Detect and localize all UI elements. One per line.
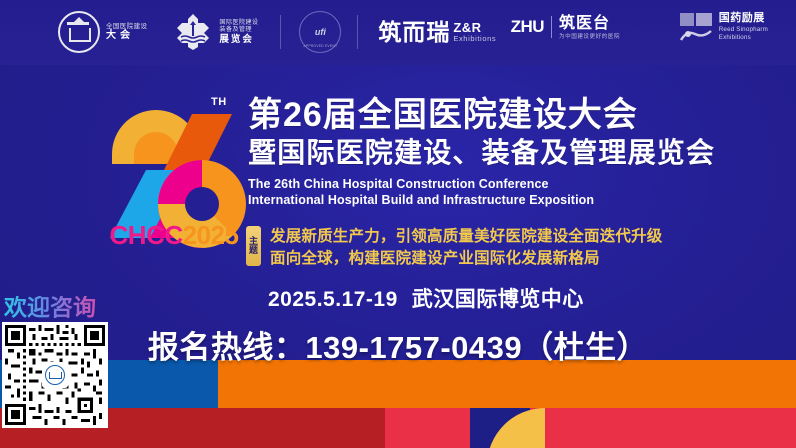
qr-caption: 欢迎咨询	[2, 296, 112, 319]
bottom-color-bands	[0, 360, 796, 448]
logo-zr-en-main: Z&R	[453, 21, 496, 35]
hotline-contact: （杜生）	[522, 330, 648, 365]
logo-zr: 筑而瑞 Z&R Exhibitions	[378, 21, 496, 44]
theme-row: 主 题 发展新质生产力，引领高质量美好医院建设全面迭代升级 面向全球，构建医院建…	[246, 226, 663, 271]
circular-seal-building-icon	[58, 11, 100, 53]
title-block: 第26届全国医院建设大会 暨国际医院建设、装备及管理展览会 The 26th C…	[248, 96, 788, 208]
snowflake-cross-icon	[173, 12, 213, 52]
ufi-sublabel: APPROVED EVENT	[300, 44, 340, 48]
ufi-label: ufi	[315, 27, 326, 37]
logo-exhibition-line3: 展览会	[219, 34, 258, 45]
logo-reed-sinopharm: 国药励展 Reed Sinopharm Exhibitions	[679, 12, 768, 42]
logo-reed-en1: Reed Sinopharm	[719, 26, 768, 34]
emblem-wordmark-chcc: CHCC	[110, 220, 183, 250]
logo-conference-line1: 全国医院建设	[106, 23, 147, 30]
logo-zr-cn: 筑而瑞	[378, 21, 450, 44]
event-venue: 武汉国际博览中心	[412, 288, 584, 311]
logo-exhibition-line2: 装备及管理	[219, 26, 258, 33]
logo-conference-line2: 大会	[106, 30, 147, 42]
theme-line1: 发展新质生产力，引领高质量美好医院建设全面迭代升级	[270, 226, 663, 248]
english-subtitle-line2: International Hospital Build and Infrast…	[248, 192, 788, 208]
main-title-line2: 暨国际医院建设、装备及管理展览会	[248, 136, 788, 170]
logo-zhu-divider	[551, 16, 552, 38]
emblem-wordmark: CHCC2025	[98, 222, 250, 248]
reed-sinopharm-mark-icon	[679, 12, 713, 42]
event-date: 2025.5.17-19	[268, 288, 398, 311]
theme-badge-char2: 题	[249, 246, 258, 255]
header-divider-2	[357, 15, 358, 49]
event-date-venue: 2025.5.17-19武汉国际博览中心	[268, 283, 584, 313]
logo-zr-en-sub: Exhibitions	[453, 35, 496, 43]
ufi-circle-icon: ufi APPROVED EVENT	[299, 11, 341, 53]
logo-zhu: ZHU 筑医台 为中国建设更好的医院	[511, 14, 620, 41]
theme-lines: 发展新质生产力，引领高质量美好医院建设全面迭代升级 面向全球，构建医院建设产业国…	[270, 226, 663, 271]
english-subtitle: The 26th China Hospital Construction Con…	[248, 176, 788, 209]
english-subtitle-line1: The 26th China Hospital Construction Con…	[248, 176, 788, 192]
logo-zhu-cn: 筑医台	[559, 14, 620, 34]
emblem-wordmark-year: 2025	[183, 220, 239, 250]
header-divider-1	[280, 15, 281, 49]
theme-badge: 主 题	[246, 226, 261, 266]
logo-zhu-en: ZHU	[511, 17, 544, 37]
qr-block: 欢迎咨询	[2, 296, 112, 428]
hotline-banner: 报名热线：139-1757-0439（杜生）	[0, 322, 796, 367]
qr-code-image[interactable]	[2, 322, 108, 428]
logo-ufi: ufi APPROVED EVENT	[299, 11, 341, 53]
theme-line2: 面向全球，构建医院建设产业国际化发展新格局	[270, 248, 663, 270]
logo-reed-en2: Exhibitions	[719, 34, 768, 42]
logo-zhu-slogan: 为中国建设更好的医院	[559, 34, 620, 41]
hotline-number[interactable]: 139-1757-0439	[305, 330, 522, 365]
main-title-line1: 第26届全国医院建设大会	[248, 96, 788, 134]
header-logo-bar: 全国医院建设 大会 国际医院建设 装备及管理 展览会 u	[0, 0, 796, 64]
logo-reed-cn: 国药励展	[719, 12, 768, 26]
band-orange	[218, 360, 796, 408]
logo-conference: 全国医院建设 大会	[58, 11, 147, 53]
hospital-seal-icon	[42, 362, 68, 388]
logo-exhibition: 国际医院建设 装备及管理 展览会	[173, 12, 258, 52]
poster-canvas: 全国医院建设 大会 国际医院建设 装备及管理 展览会 u	[0, 0, 796, 448]
emblem-superscript: TH	[211, 96, 227, 108]
hotline-label: 报名热线：	[148, 330, 306, 365]
